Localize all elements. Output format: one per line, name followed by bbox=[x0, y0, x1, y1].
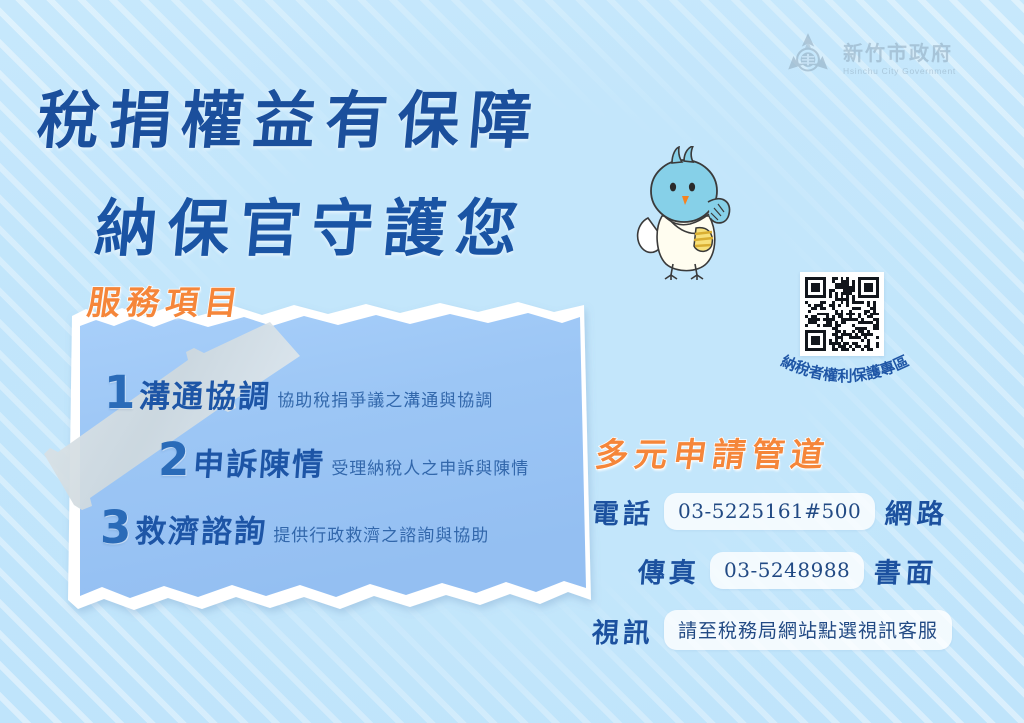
qr-code-block[interactable] bbox=[800, 272, 884, 356]
headline-line-2: 納保官守護您 bbox=[0, 178, 684, 268]
service-title: 溝通協調 bbox=[138, 382, 272, 413]
service-desc: 受理納稅人之申訴與陳情 bbox=[331, 461, 529, 481]
channel-trail-web: 網路 bbox=[884, 492, 951, 531]
service-item: 2 申訴陳情 受理納稅人之申訴與陳情 bbox=[158, 439, 600, 480]
gov-name-en: Hsinchu City Government bbox=[843, 67, 956, 76]
blue-bird-mascot-icon bbox=[632, 146, 742, 281]
channels-list: 電話 03-5225161#500 網路 傳真 03-5248988 書面 視訊… bbox=[592, 492, 1012, 670]
service-number: 3 bbox=[100, 507, 131, 548]
service-title: 申訴陳情 bbox=[192, 450, 326, 481]
service-item: 1 溝通協調 協助稅捐爭議之溝通與協調 bbox=[104, 372, 600, 413]
hsinchu-city-emblem-icon bbox=[782, 31, 834, 83]
service-number: 2 bbox=[158, 439, 189, 480]
channels-heading: 多元申請管道 bbox=[593, 428, 834, 476]
channel-value-video[interactable]: 請至稅務局網站點選視訊客服 bbox=[664, 610, 952, 650]
qr-caption-text: 納稅者權利保護專區 bbox=[778, 352, 911, 385]
headline: 稅捐權益有保障 納保官守護您 bbox=[0, 70, 680, 268]
svg-text:納稅者權利保護專區: 納稅者權利保護專區 bbox=[778, 352, 911, 385]
service-desc: 提供行政救濟之諮詢與協助 bbox=[273, 528, 489, 548]
service-title: 救濟諮詢 bbox=[134, 517, 268, 548]
channel-row-video: 視訊 請至稅務局網站點選視訊客服 bbox=[592, 610, 1012, 650]
channel-label: 電話 bbox=[591, 492, 656, 531]
channel-value-fax[interactable]: 03-5248988 bbox=[710, 552, 864, 589]
channel-label: 視訊 bbox=[591, 611, 656, 650]
channel-value-phone[interactable]: 03-5225161#500 bbox=[664, 493, 875, 530]
channel-row-fax: 傳真 03-5248988 書面 bbox=[638, 551, 1012, 590]
gov-logo: 新竹市政府 Hsinchu City Government bbox=[782, 31, 956, 83]
service-number: 1 bbox=[104, 372, 135, 413]
channel-row-phone: 電話 03-5225161#500 網路 bbox=[592, 492, 1012, 531]
gov-name-zh: 新竹市政府 bbox=[843, 43, 956, 63]
channel-label: 傳真 bbox=[637, 551, 702, 590]
service-desc: 協助稅捐爭議之溝通與協調 bbox=[277, 393, 493, 413]
poster-canvas: 新竹市政府 Hsinchu City Government 稅捐權益有保障 納保… bbox=[0, 0, 1024, 723]
services-list: 1 溝通協調 協助稅捐爭議之溝通與協調 2 申訴陳情 受理納稅人之申訴與陳情 3… bbox=[100, 372, 600, 574]
headline-line-1: 稅捐權益有保障 bbox=[0, 70, 684, 160]
services-heading: 服務項目 bbox=[85, 276, 248, 324]
channel-trail-written: 書面 bbox=[873, 551, 940, 590]
qr-code-icon[interactable] bbox=[800, 272, 884, 356]
service-item: 3 救濟諮詢 提供行政救濟之諮詢與協助 bbox=[100, 507, 600, 548]
